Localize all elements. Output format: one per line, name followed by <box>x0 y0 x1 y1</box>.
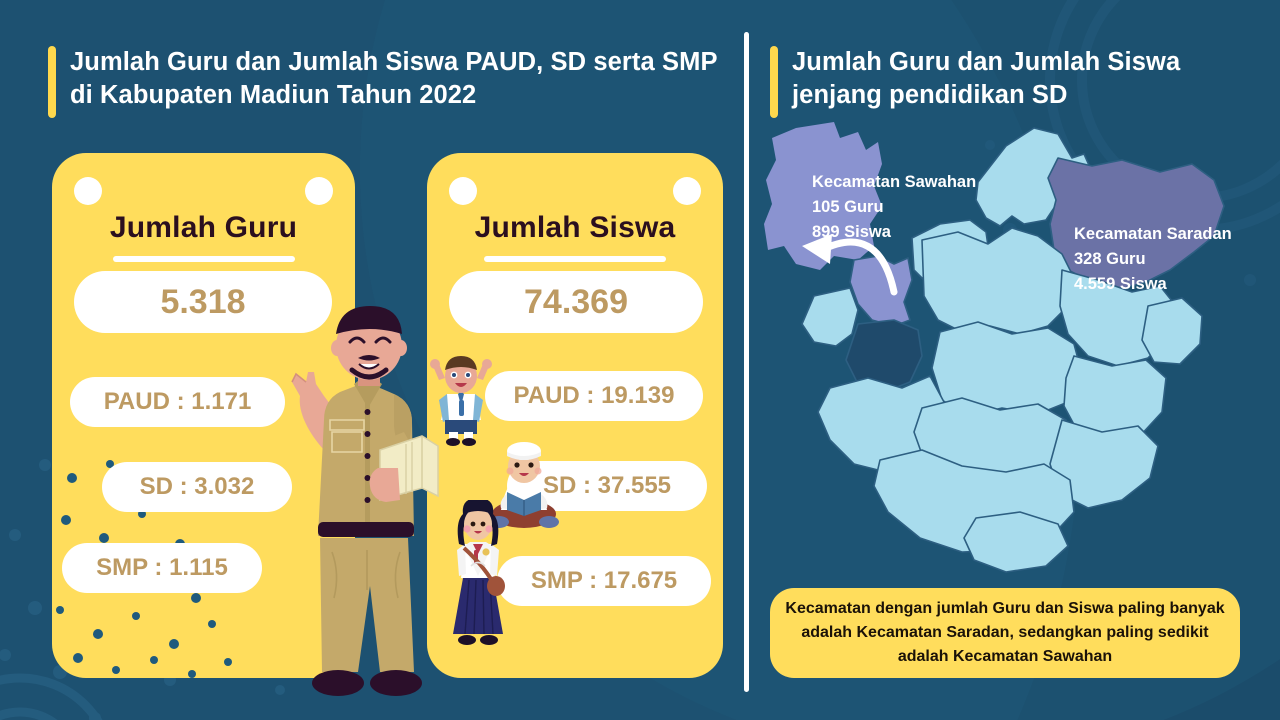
callout-saradan-students: 4.559 Siswa <box>1074 272 1232 297</box>
card-title-underline <box>113 256 295 262</box>
siswa-smp-row: SMP : 17.675 <box>497 556 711 606</box>
card-punch-hole-left <box>449 177 477 205</box>
district-east-spur <box>1142 298 1202 364</box>
card-title-guru: Jumlah Guru <box>52 211 355 245</box>
vertical-divider <box>744 32 749 692</box>
callout-sawahan-teachers: 105 Guru <box>812 195 976 220</box>
right-panel-header: Jumlah Guru dan Jumlah Siswa jenjang pen… <box>770 46 1240 118</box>
summary-caption-box: Kecamatan dengan jumlah Guru dan Siswa p… <box>770 588 1240 678</box>
card-title-siswa: Jumlah Siswa <box>427 211 723 245</box>
left-panel-header: Jumlah Guru dan Jumlah Siswa PAUD, SD se… <box>48 46 738 118</box>
header-accent-bar <box>48 46 56 118</box>
callout-sawahan-name: Kecamatan Sawahan <box>812 170 976 195</box>
page-title-right: Jumlah Guru dan Jumlah Siswa jenjang pen… <box>792 46 1240 112</box>
total-siswa-value: 74.369 <box>449 271 703 333</box>
guru-paud-row: PAUD : 1.171 <box>70 377 285 427</box>
map-callout-sawahan: Kecamatan Sawahan 105 Guru 899 Siswa <box>812 170 976 245</box>
student-boy-illustration <box>425 352 497 446</box>
card-punch-hole-left <box>74 177 102 205</box>
district-sawahan-onmap <box>850 256 912 326</box>
summary-caption-text: Kecamatan dengan jumlah Guru dan Siswa p… <box>784 597 1226 669</box>
map-callout-saradan: Kecamatan Saradan 328 Guru 4.559 Siswa <box>1074 222 1232 297</box>
guru-smp-row: SMP : 1.115 <box>62 543 262 593</box>
infographic-canvas: Jumlah Guru dan Jumlah Siswa PAUD, SD se… <box>0 0 1280 720</box>
page-title-left: Jumlah Guru dan Jumlah Siswa PAUD, SD se… <box>70 46 738 112</box>
callout-saradan-teachers: 328 Guru <box>1074 247 1232 272</box>
card-punch-hole-right <box>305 177 333 205</box>
callout-saradan-name: Kecamatan Saradan <box>1074 222 1232 247</box>
student-girl-illustration <box>443 500 513 650</box>
header-accent-bar <box>770 46 778 118</box>
card-punch-hole-right <box>673 177 701 205</box>
siswa-paud-row: PAUD : 19.139 <box>485 371 703 421</box>
district-west-small <box>802 288 858 346</box>
callout-sawahan-students: 899 Siswa <box>812 220 976 245</box>
card-title-underline <box>484 256 666 262</box>
